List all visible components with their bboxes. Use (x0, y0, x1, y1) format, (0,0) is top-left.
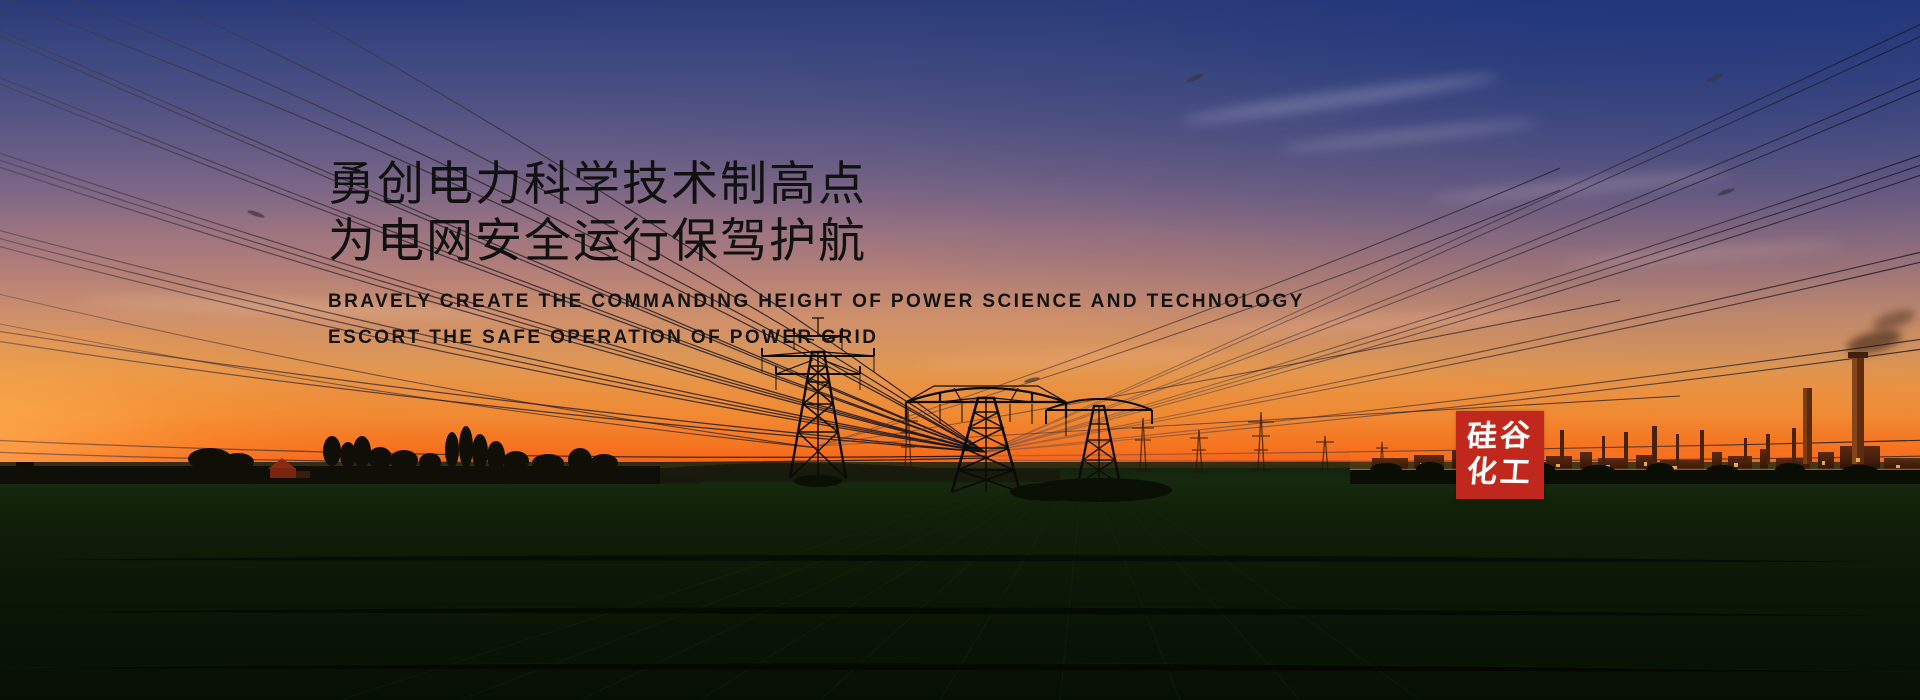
hero-banner: 勇创电力科学技术制高点 为电网安全运行保驾护航 BRAVELY CREATE T… (0, 0, 1920, 700)
logo-text-line-1: 硅谷 (1466, 418, 1534, 456)
headline-line-1: 勇创电力科学技术制高点 (328, 155, 1328, 212)
subtitle-line-2: ESCORT THE SAFE OPERATION OF POWER GRID (328, 321, 1328, 355)
banner-copy: 勇创电力科学技术制高点 为电网安全运行保驾护航 BRAVELY CREATE T… (328, 155, 1328, 355)
subtitle-line-1: BRAVELY CREATE THE COMMANDING HEIGHT OF … (328, 285, 1328, 319)
logo-text-line-2: 化工 (1465, 454, 1534, 491)
headline-line-2: 为电网安全运行保驾护航 (328, 212, 1328, 269)
foreground-field (0, 468, 1920, 700)
company-logo-stamp[interactable]: 硅谷 化工 (1456, 411, 1544, 499)
